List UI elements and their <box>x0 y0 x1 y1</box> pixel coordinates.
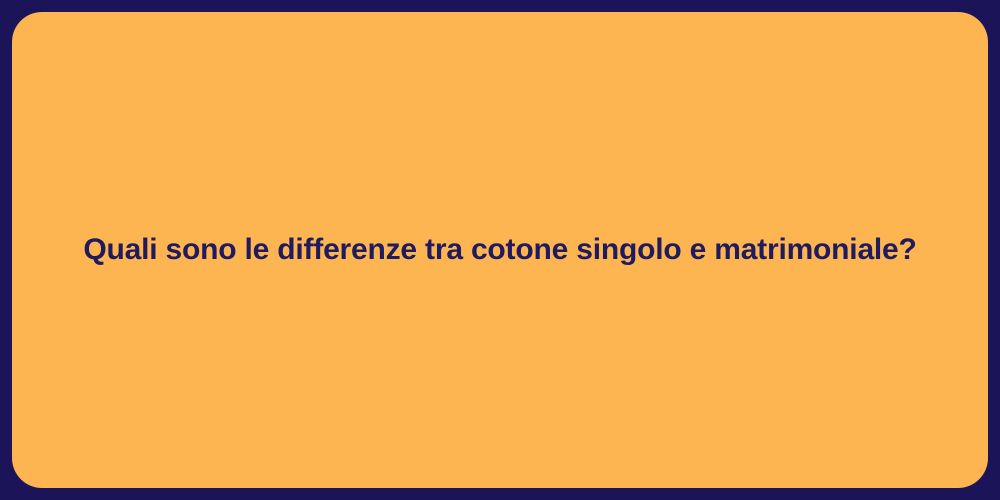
question-card-frame: Quali sono le differenze tra cotone sing… <box>0 0 1000 500</box>
question-card-panel: Quali sono le differenze tra cotone sing… <box>12 12 988 488</box>
question-heading: Quali sono le differenze tra cotone sing… <box>83 231 916 269</box>
